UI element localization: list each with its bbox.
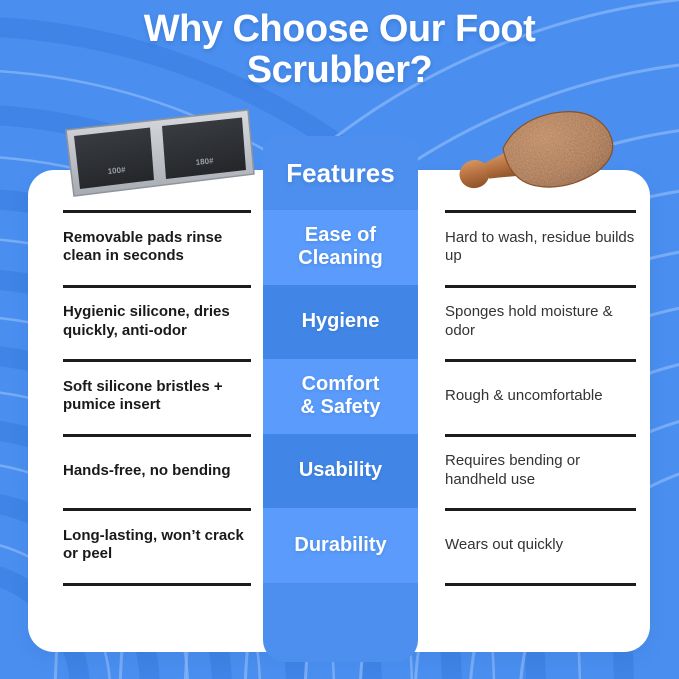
- left-column-bottom-divider: [63, 583, 251, 586]
- feature-cell-durability: Durability: [263, 508, 418, 583]
- table-row: Hard to wash, residue builds up: [445, 210, 636, 285]
- feature-cell-comfort-safety: Comfort & Safety: [263, 359, 418, 434]
- right-column-bottom-divider: [445, 583, 636, 586]
- page-title: Why Choose Our Foot Scrubber?: [0, 8, 679, 91]
- row-divider: [63, 359, 251, 362]
- feature-cell-usability: Usability: [263, 434, 418, 509]
- row-divider: [445, 508, 636, 511]
- row-divider: [445, 210, 636, 213]
- feature-label-line: Comfort: [302, 373, 380, 395]
- row-divider: [445, 434, 636, 437]
- right-column-competitor: Hard to wash, residue builds up Sponges …: [418, 170, 650, 586]
- row-divider: [445, 359, 636, 362]
- row-divider: [63, 285, 251, 288]
- features-column: Features Ease of Cleaning Hygiene Comfor…: [263, 136, 418, 662]
- table-row: Soft silicone bristles + pumice insert: [63, 359, 251, 434]
- pad-grit-label-right: 180#: [195, 156, 214, 167]
- feature-label-line: Cleaning: [298, 247, 382, 269]
- left-cell-text: Hands-free, no bending: [63, 462, 231, 480]
- title-line-2: Scrubber?: [0, 49, 679, 92]
- features-header-label: Features: [286, 158, 394, 189]
- left-column-our-product: Removable pads rinse clean in seconds Hy…: [28, 170, 263, 586]
- title-line-1: Why Choose Our Foot: [0, 8, 679, 51]
- infographic-canvas: Why Choose Our Foot Scrubber? Removable …: [0, 0, 679, 679]
- table-row: Hygienic silicone, dries quickly, anti-o…: [63, 285, 251, 360]
- table-row: Removable pads rinse clean in seconds: [63, 210, 251, 285]
- feature-cell-hygiene: Hygiene: [263, 285, 418, 360]
- right-cell-text: Hard to wash, residue builds up: [445, 229, 636, 266]
- feature-label-line: & Safety: [300, 396, 380, 418]
- row-divider: [445, 285, 636, 288]
- table-row: Sponges hold moisture & odor: [445, 285, 636, 360]
- feature-cell-ease-of-cleaning: Ease of Cleaning: [263, 210, 418, 285]
- foot-scrubber-pads-image: 100# 180#: [58, 108, 256, 200]
- row-divider: [63, 508, 251, 511]
- left-cell-text: Removable pads rinse clean in seconds: [63, 229, 251, 266]
- right-cell-text: Requires bending or handheld use: [445, 452, 636, 489]
- right-cell-text: Sponges hold moisture & odor: [445, 303, 636, 340]
- feature-label-line: Hygiene: [302, 310, 380, 333]
- feature-label-line: Durability: [294, 534, 386, 557]
- left-cell-text: Soft silicone bristles + pumice insert: [63, 378, 251, 415]
- features-column-header: Features: [263, 136, 418, 210]
- table-row: Hands-free, no bending: [63, 434, 251, 509]
- table-row: Long-lasting, won’t crack or peel: [63, 508, 251, 583]
- feature-label-line: Usability: [299, 459, 382, 482]
- feature-label-line: Ease of: [305, 224, 376, 246]
- row-divider: [63, 434, 251, 437]
- right-cell-text: Wears out quickly: [445, 536, 563, 554]
- table-row: Rough & uncomfortable: [445, 359, 636, 434]
- pumice-stone-image: [443, 100, 633, 200]
- pad-grit-label-left: 100#: [107, 165, 126, 176]
- table-row: Wears out quickly: [445, 508, 636, 583]
- table-row: Requires bending or handheld use: [445, 434, 636, 509]
- row-divider: [63, 210, 251, 213]
- right-cell-text: Rough & uncomfortable: [445, 387, 603, 405]
- left-cell-text: Hygienic silicone, dries quickly, anti-o…: [63, 303, 251, 340]
- left-cell-text: Long-lasting, won’t crack or peel: [63, 527, 251, 564]
